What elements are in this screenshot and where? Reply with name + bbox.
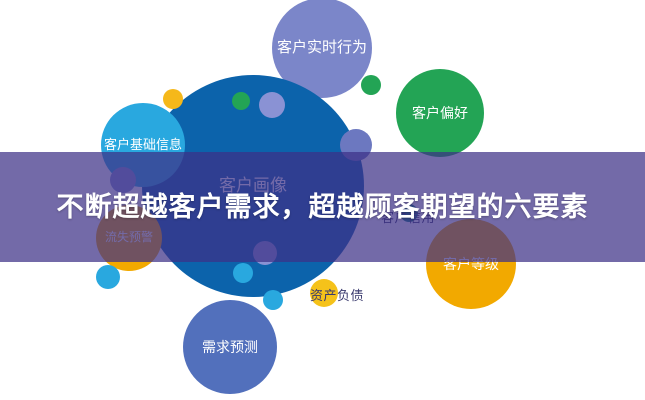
page-title: 不断超越客户需求，超越顾客期望的六要素: [53, 189, 593, 225]
bubble-accent-dot-green-inner[interactable]: [232, 92, 250, 110]
bubble-demand-forecast[interactable]: 需求预测: [183, 300, 277, 394]
bubble-label: 需求预测: [198, 339, 262, 355]
bubble-label: 客户基础信息: [100, 138, 186, 153]
bubble-accent-dot-cyan-bottom-left[interactable]: [96, 265, 120, 289]
bubble-label: 客户偏好: [408, 105, 472, 121]
infographic-canvas: 客户实时行为客户偏好客户画像客户基础信息需求预测客户等级流失预警资产负债客户信用…: [0, 0, 645, 400]
bubble-accent-dot-periwinkle-inner[interactable]: [259, 92, 285, 118]
bubble-accent-dot-cyan-left[interactable]: [233, 263, 253, 283]
bubble-accent-dot-yellow-topleft[interactable]: [163, 89, 183, 109]
bubble-customer-preference[interactable]: 客户偏好: [396, 69, 484, 157]
bubble-accent-dot-cyan-right[interactable]: [263, 290, 283, 310]
title-overlay-band: 不断超越客户需求，超越顾客期望的六要素: [0, 152, 645, 262]
label-asset-liability-label: 资产负债: [310, 285, 364, 304]
bubble-accent-dot-green-top[interactable]: [361, 75, 381, 95]
bubble-label: 客户实时行为: [273, 39, 371, 56]
